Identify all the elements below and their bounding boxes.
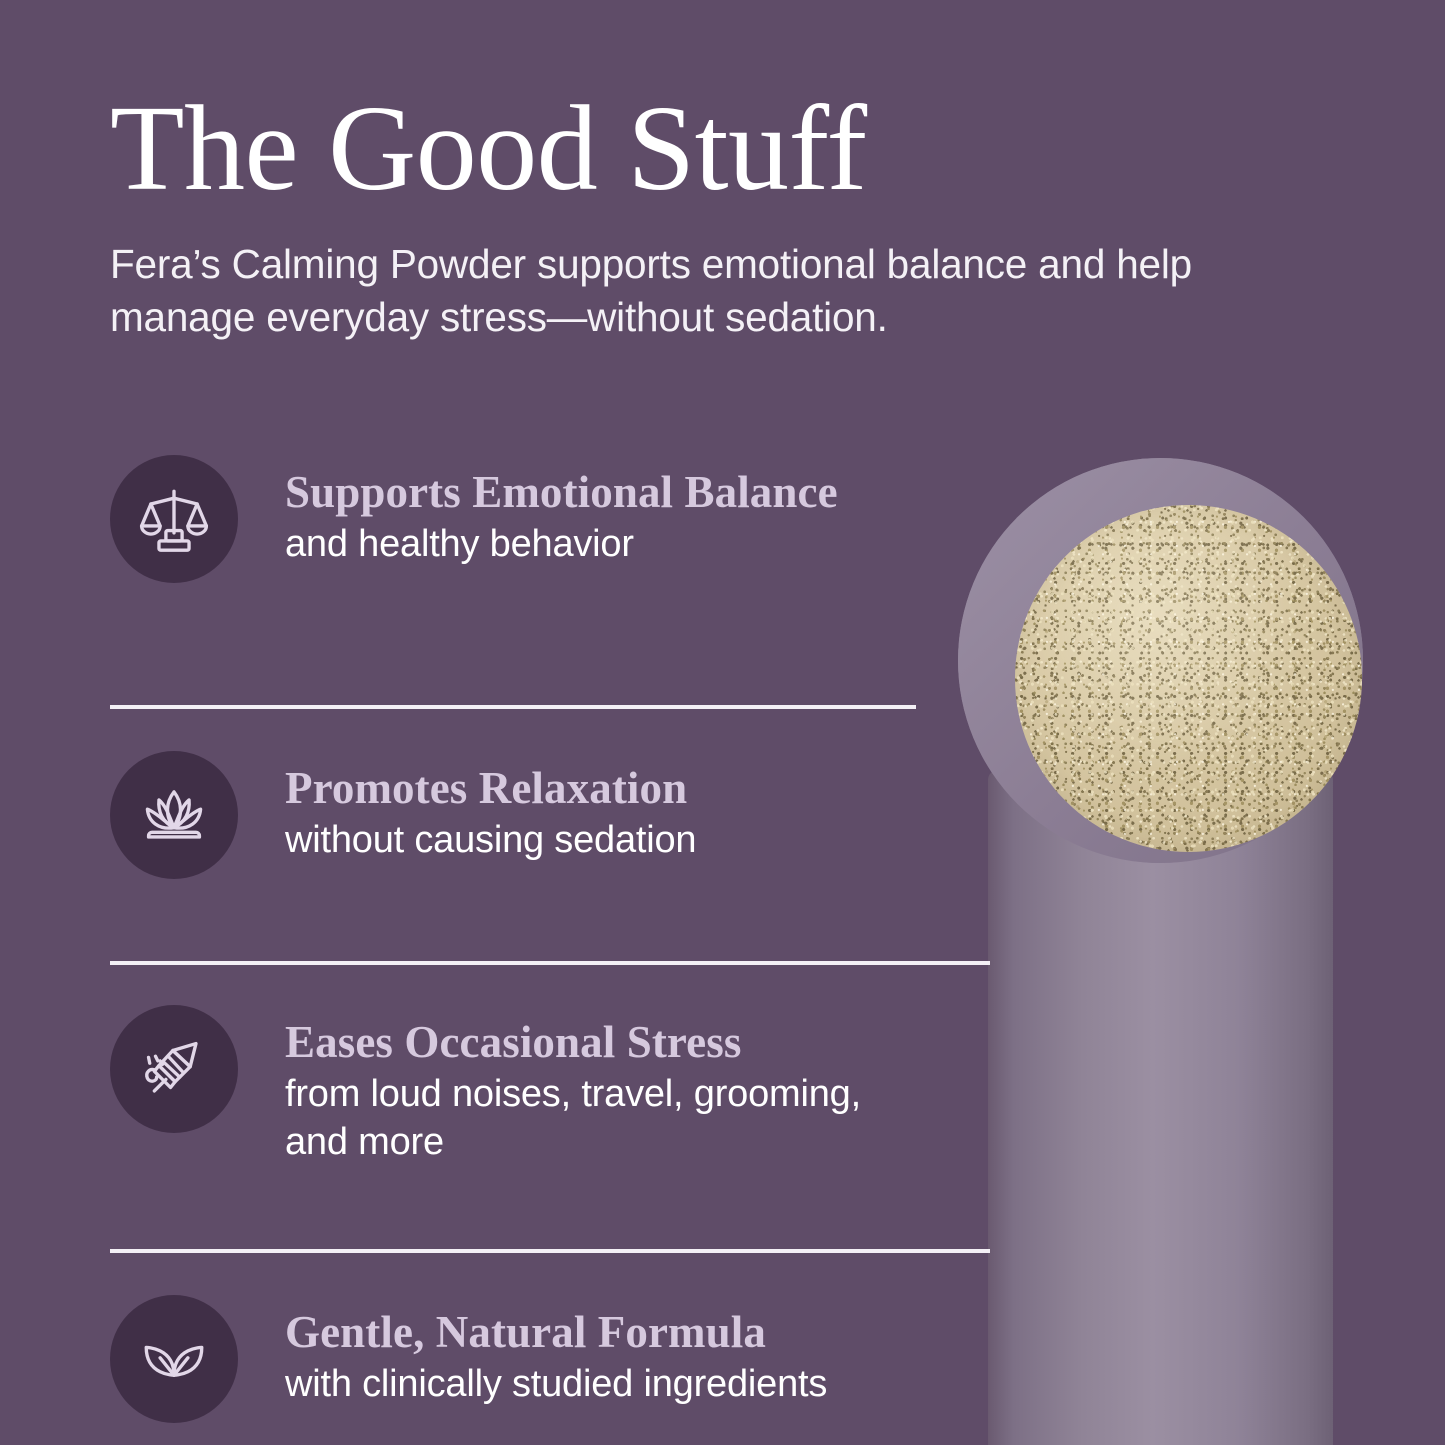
leaves-icon [137, 1322, 211, 1396]
page-subtitle: Fera’s Calming Powder supports emotional… [110, 238, 1270, 345]
firework-rocket-icon [137, 1032, 211, 1106]
feature-row: Eases Occasional Stress from loud noises… [110, 965, 1445, 1215]
feature-text: Supports Emotional Balance and healthy b… [285, 455, 1445, 569]
feature-icon-circle [110, 1295, 238, 1423]
row-spacer [110, 1215, 1445, 1249]
balance-scale-icon [137, 482, 211, 556]
feature-title: Supports Emotional Balance [285, 467, 1445, 517]
feature-row: Supports Emotional Balance and healthy b… [110, 455, 1445, 665]
page-title: The Good Stuff [110, 88, 1290, 210]
row-spacer [110, 665, 1445, 705]
feature-title: Gentle, Natural Formula [285, 1307, 1445, 1357]
feature-subtitle: with clinically studied ingredients [285, 1361, 925, 1408]
feature-icon-circle [110, 1005, 238, 1133]
feature-title: Promotes Relaxation [285, 763, 1445, 813]
feature-subtitle: and healthy behavior [285, 521, 925, 568]
feature-row: Gentle, Natural Formula with clinically … [110, 1253, 1445, 1445]
feature-subtitle: without causing sedation [285, 817, 925, 864]
feature-text: Promotes Relaxation without causing seda… [285, 751, 1445, 865]
the-good-stuff-infographic: The Good Stuff Fera’s Calming Powder sup… [0, 0, 1445, 1445]
feature-row: Promotes Relaxation without causing seda… [110, 709, 1445, 923]
header: The Good Stuff Fera’s Calming Powder sup… [110, 88, 1290, 345]
feature-list: Supports Emotional Balance and healthy b… [110, 455, 1445, 1445]
feature-text: Eases Occasional Stress from loud noises… [285, 1005, 1445, 1166]
feature-title: Eases Occasional Stress [285, 1017, 1445, 1067]
row-spacer [110, 923, 1445, 961]
feature-icon-circle [110, 751, 238, 879]
lotus-flower-icon [137, 778, 211, 852]
feature-text: Gentle, Natural Formula with clinically … [285, 1295, 1445, 1409]
feature-subtitle: from loud noises, travel, grooming, and … [285, 1071, 925, 1165]
feature-icon-circle [110, 455, 238, 583]
